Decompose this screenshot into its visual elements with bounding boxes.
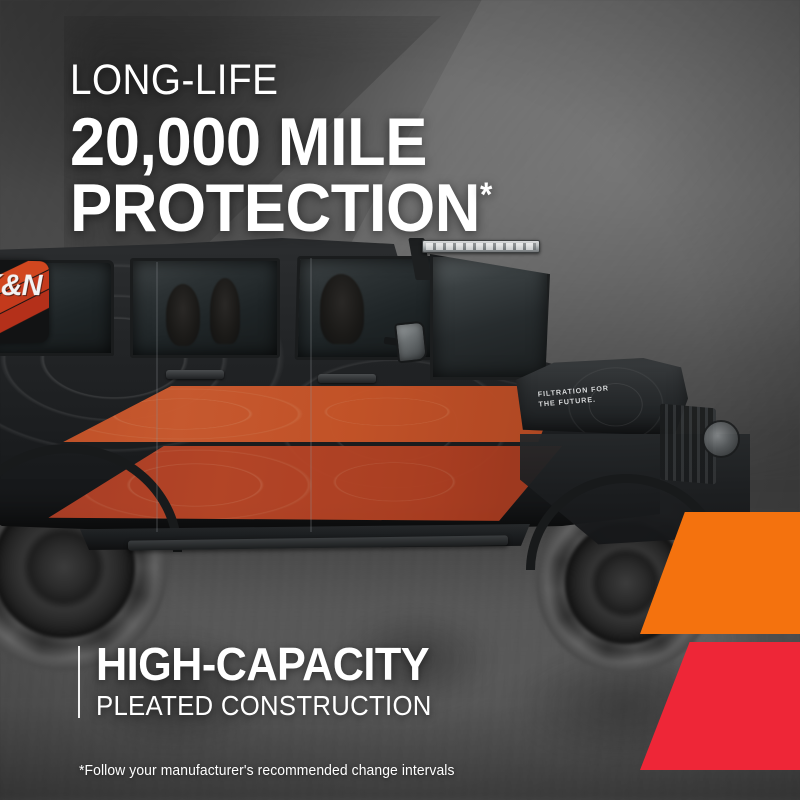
door-seam-front	[310, 258, 312, 532]
callout-divider-rule	[78, 646, 80, 718]
footnote-disclaimer: *Follow your manufacturer's recommended …	[79, 762, 455, 780]
passenger-silhouette-rear	[166, 284, 200, 346]
callout-text-group: HIGH-CAPACITY PLEATED CONSTRUCTION	[96, 640, 461, 722]
door-seam-rear	[156, 262, 158, 532]
kn-logo-text-line: K&N	[0, 269, 42, 300]
driver-silhouette	[320, 274, 364, 344]
middle-side-window	[130, 258, 280, 358]
callout-block: HIGH-CAPACITY PLEATED CONSTRUCTION	[70, 640, 461, 722]
headlight	[702, 420, 740, 458]
passenger-silhouette-mid	[210, 278, 240, 344]
headline-line-2: PROTECTION*	[70, 176, 492, 240]
headline-block: LONG-LIFE 20,000 MILE PROTECTION*	[70, 56, 524, 240]
callout-subtitle: PLEATED CONSTRUCTION	[96, 690, 432, 722]
headline-line-1: 20,000 MILE	[70, 110, 492, 174]
windshield	[430, 254, 550, 380]
kn-door-logo: K&N	[0, 259, 49, 346]
headline-line-2-text: PROTECTION	[70, 170, 480, 246]
side-mirror	[394, 321, 428, 364]
headline-eyebrow: LONG-LIFE	[70, 56, 478, 104]
headline-asterisk: *	[480, 176, 492, 214]
door-handle-front	[318, 374, 376, 383]
kn-logo-text: K&N	[0, 269, 42, 300]
callout-title: HIGH-CAPACITY	[96, 640, 439, 688]
advertisement-canvas: FILTRATION FOR THE FUTURE. K&N LONG-LIFE…	[0, 0, 800, 800]
door-handle-rear	[166, 370, 224, 379]
